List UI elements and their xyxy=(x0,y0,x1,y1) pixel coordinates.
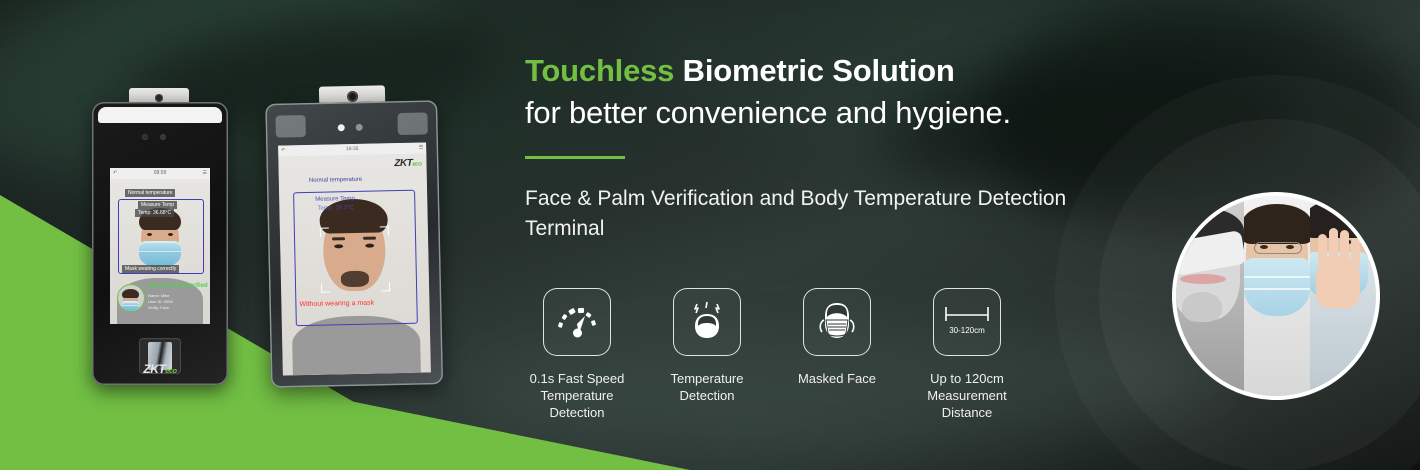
device-right-camera-feed: ZKTeco Normal temperature Measure Temp T… xyxy=(278,153,431,375)
temp-value-label: Temp: 36.3°C xyxy=(317,205,354,212)
feature-icon-box: 30-120cm xyxy=(933,288,1001,356)
feature-list: 0.1s Fast Speed Temperature Detection Te… xyxy=(512,288,1032,421)
speaker-pad xyxy=(275,115,305,138)
people-collage-circle xyxy=(1172,192,1380,400)
indicator-led-icon xyxy=(356,124,363,131)
feature-label: 0.1s Fast Speed Temperature Detection xyxy=(530,370,625,421)
face-corner-marker xyxy=(320,228,329,237)
mask-status-tag: Mask wearing correctly xyxy=(122,265,179,273)
brand-zk: ZKT xyxy=(143,362,165,376)
measure-temp-label: Measure Temp xyxy=(315,196,355,203)
feature-item: 30-120cm Up to 120cm Measurement Distanc… xyxy=(902,288,1032,421)
measurement-range-badge: 30-120cm xyxy=(942,326,992,335)
face-mask xyxy=(1244,258,1310,316)
temp-value-tag: Temp: 36.68°C xyxy=(135,209,174,217)
collage-panel-masked-man xyxy=(1244,196,1310,396)
headline-rest: Biometric Solution xyxy=(674,53,954,88)
person-eye xyxy=(1286,245,1294,249)
hand-finger xyxy=(1329,228,1338,268)
menu-icon[interactable]: ☰ xyxy=(203,170,207,177)
verification-status: Successfully verified xyxy=(148,283,208,289)
product-banner: ↶ 08:58 ☰ Normal temperature xyxy=(0,0,1420,470)
headline: Touchless Biometric Solution for better … xyxy=(525,50,1125,134)
measurement-arrow-icon xyxy=(942,304,992,326)
face-corner-marker xyxy=(321,284,330,293)
hand-finger xyxy=(1318,234,1327,268)
speaker-pad xyxy=(397,112,427,135)
accent-divider xyxy=(525,156,625,159)
person-cheek xyxy=(1182,292,1222,322)
person-eye xyxy=(1260,245,1268,249)
feature-item: Masked Face xyxy=(772,288,902,421)
subheadline: Face & Palm Verification and Body Temper… xyxy=(525,184,1125,244)
face-corner-marker xyxy=(380,226,389,235)
feature-item: Temperature Detection xyxy=(642,288,772,421)
device-right-screen-logo: ZKTeco xyxy=(394,158,421,170)
brand-eco: eco xyxy=(412,161,421,168)
camera-lens-icon xyxy=(347,91,358,102)
person-hair xyxy=(1244,204,1310,244)
verify-detail-method: Verify: Face xyxy=(148,305,169,311)
headline-accent: Touchless xyxy=(525,53,674,88)
face-corner-marker xyxy=(381,282,390,291)
normal-temperature-tag: Normal temperature xyxy=(125,189,175,197)
hand-finger xyxy=(1351,238,1360,268)
menu-icon[interactable]: ☰ xyxy=(419,145,424,152)
feature-label: Up to 120cm Measurement Distance xyxy=(927,370,1006,421)
ir-sensor-icon xyxy=(142,134,148,140)
avatar-mask xyxy=(122,301,139,311)
feature-icon-box xyxy=(673,288,741,356)
indicator-led-icon xyxy=(338,124,345,131)
device-left-camera-feed: Normal temperature Measure Temp Temp: 36… xyxy=(110,179,210,324)
temperature-head-icon xyxy=(685,300,729,344)
collage-panel-stop-hand xyxy=(1310,196,1376,396)
speedometer-icon xyxy=(555,302,599,342)
measure-temp-tag: Measure Temp xyxy=(138,201,177,209)
device-right: ↶ 18:35 ☰ ZKTeco xyxy=(265,84,443,388)
device-left-body: ↶ 08:58 ☰ Normal temperature xyxy=(92,102,228,385)
feature-label: Masked Face xyxy=(798,370,876,387)
mask-pleat xyxy=(1244,276,1310,278)
ir-sensor-icon xyxy=(160,134,166,140)
hand-finger xyxy=(1340,230,1349,268)
device-left: ↶ 08:58 ☰ Normal temperature xyxy=(92,88,228,385)
mask-pleat xyxy=(1244,288,1310,290)
feature-label: Temperature Detection xyxy=(671,370,744,404)
device-right-body: ↶ 18:35 ☰ ZKTeco xyxy=(265,100,443,388)
device-left-screen: ↶ 08:58 ☰ Normal temperature xyxy=(110,168,210,324)
device-left-brand-logo: ZKTeco xyxy=(92,360,228,378)
avatar-hair xyxy=(122,289,139,298)
headline-line2: for better convenience and hygiene. xyxy=(525,95,1011,130)
verify-detail-name: Name: Mike xyxy=(148,293,169,299)
normal-temperature-label: Normal temperature xyxy=(309,177,362,184)
avatar xyxy=(117,284,145,312)
camera-lens-icon xyxy=(155,94,163,102)
feature-icon-box xyxy=(543,288,611,356)
feature-icon-box xyxy=(803,288,871,356)
feature-item: 0.1s Fast Speed Temperature Detection xyxy=(512,288,642,421)
collage-panel-fever xyxy=(1176,196,1244,396)
fever-flush xyxy=(1180,274,1226,284)
verify-detail-userid: User ID: 0006 xyxy=(148,299,173,305)
brand-eco: eco xyxy=(165,366,176,375)
brand-zk: ZKT xyxy=(394,158,412,169)
device-light-bar xyxy=(98,107,222,123)
device-right-screen: ↶ 18:35 ☰ ZKTeco xyxy=(278,142,431,375)
status-time: 08:58 xyxy=(110,170,210,177)
banner-copy: Touchless Biometric Solution for better … xyxy=(525,50,1125,244)
masked-face-icon xyxy=(814,300,860,344)
